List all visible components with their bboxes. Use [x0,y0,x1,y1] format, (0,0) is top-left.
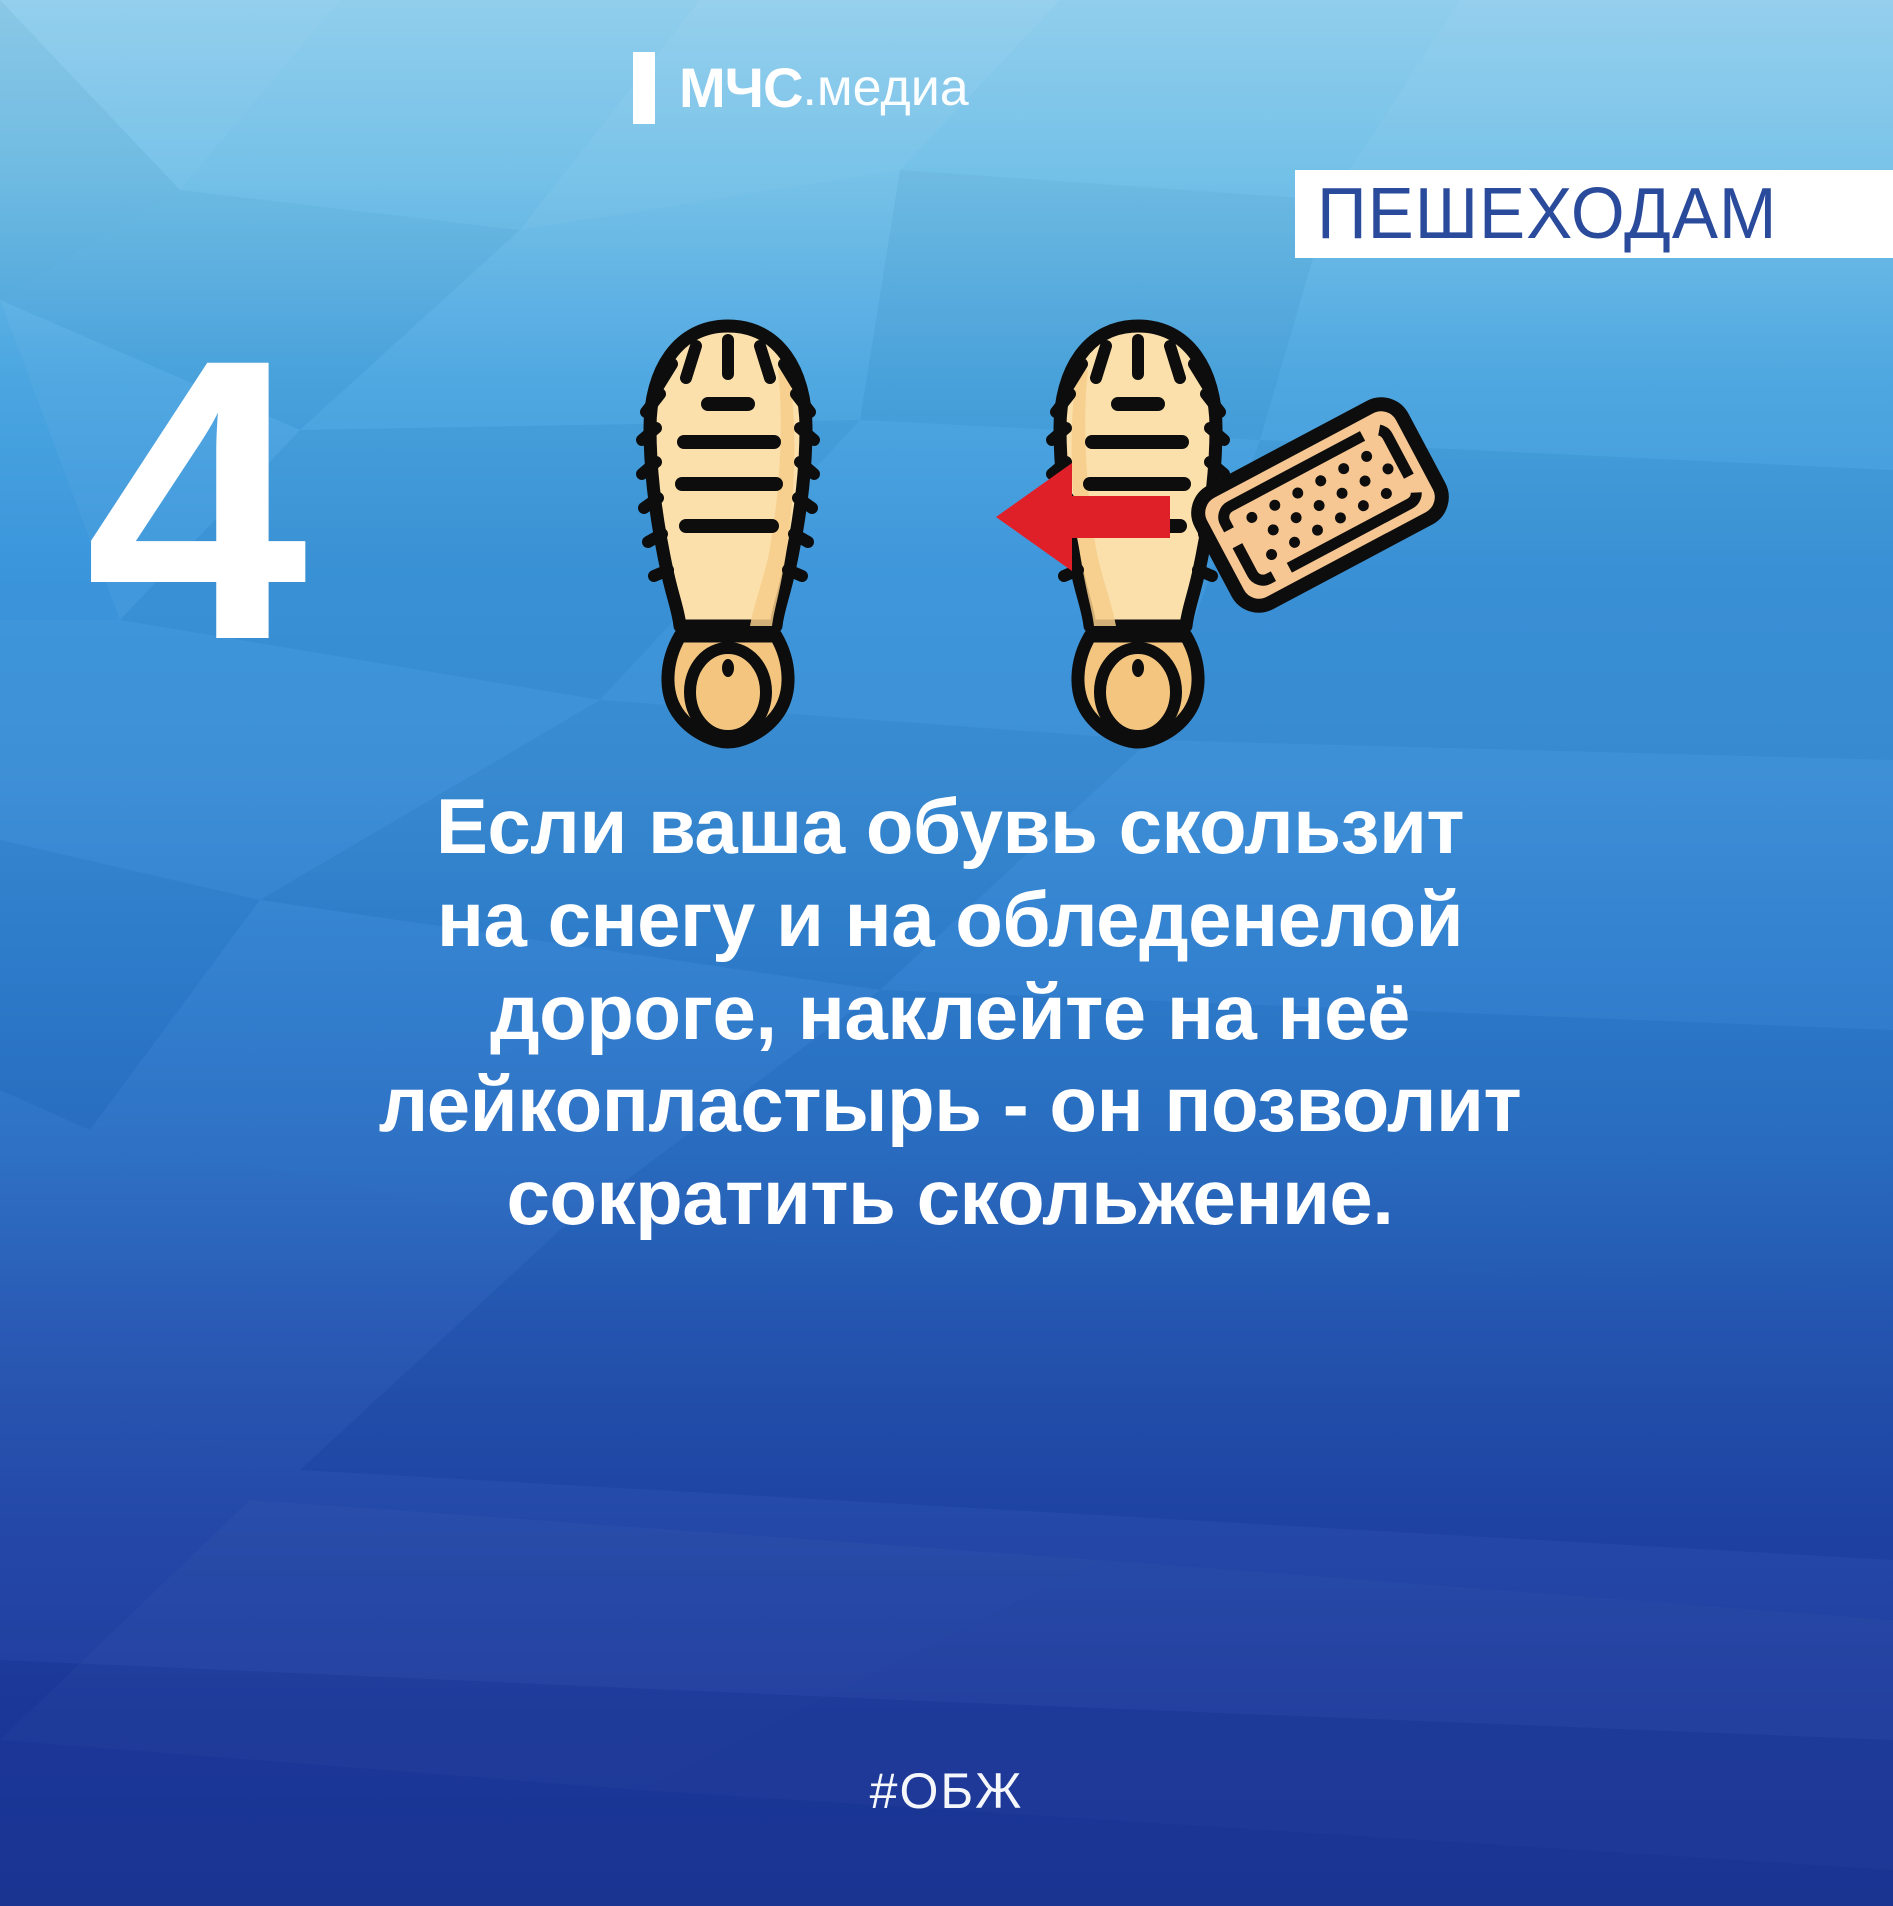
headline-line-2: на снегу и на обледенелой [110,873,1790,966]
logo-text-secondary: .медиа [802,62,968,114]
adhesive-bandage-icon [1170,380,1470,630]
headline-line-1: Если ваша обувь скользит [110,780,1790,873]
shoe-sole-icon-left [642,326,814,742]
headline-line-3: дороге, наклейте на неё [110,966,1790,1059]
audience-badge: ПЕШЕХОДАМ [1295,170,1893,258]
step-number: 4 [85,300,297,700]
headline-text: Если ваша обувь скользит на снегу и на о… [110,780,1790,1244]
headline-line-4: лейкопластырь - он позволит [110,1058,1790,1151]
headline-line-5: сократить скольжение. [110,1151,1790,1244]
poster-canvas: МЧС .медиа ПЕШЕХОДАМ 4 [0,0,1893,1906]
footer-hashtag: #ОБЖ [0,1762,1893,1820]
logo-text-primary: МЧС [679,60,802,116]
brand-logo: МЧС .медиа [633,50,969,126]
audience-badge-label: ПЕШЕХОДАМ [1317,178,1777,250]
vertical-bar-icon [633,52,655,124]
